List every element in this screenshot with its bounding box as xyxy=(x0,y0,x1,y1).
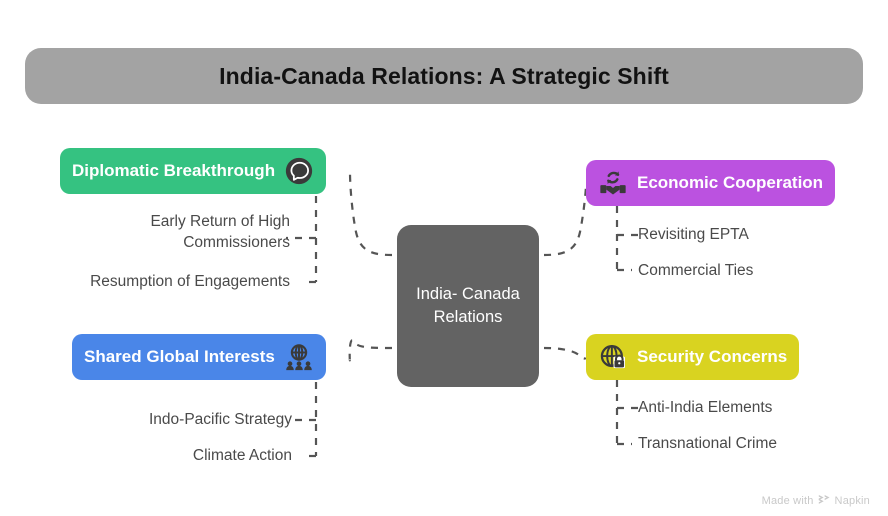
leaf-climate-action: Climate Action xyxy=(20,446,292,467)
leaf-transnational-crime: Transnational Crime xyxy=(638,434,888,455)
footer-brand: Napkin xyxy=(835,495,870,507)
branch-label: Economic Cooperation xyxy=(637,173,823,193)
chat-bubble-icon xyxy=(284,156,314,186)
leaf-commercial-ties: Commercial Ties xyxy=(638,261,888,282)
leaf-indo-pacific-strategy: Indo-Pacific Strategy xyxy=(20,410,292,431)
center-node-label: India- Canada Relations xyxy=(397,283,539,330)
globe-people-icon xyxy=(284,342,314,372)
branch-economic-cooperation[interactable]: Economic Cooperation xyxy=(586,160,835,206)
globe-lock-icon xyxy=(598,342,628,372)
branch-label: Shared Global Interests xyxy=(84,347,275,367)
mindmap-canvas: India-Canada Relations: A Strategic Shif… xyxy=(0,0,888,516)
footer-prefix: Made with xyxy=(762,495,814,507)
center-node[interactable]: India- Canada Relations xyxy=(397,225,539,387)
leaf-anti-india-elements: Anti-India Elements xyxy=(638,398,888,419)
leaf-early-return-of-high-commissioners: Early Return of High Commissioners xyxy=(20,212,290,253)
leaf-revisiting-epta: Revisiting EPTA xyxy=(638,225,888,246)
napkin-chevron-logo xyxy=(818,493,831,508)
branch-label: Security Concerns xyxy=(637,347,787,367)
made-with-napkin-footer[interactable]: Made with Napkin xyxy=(762,493,870,508)
handshake-refresh-icon xyxy=(598,168,628,198)
branch-shared-global-interests[interactable]: Shared Global Interests xyxy=(72,334,326,380)
page-title: India-Canada Relations: A Strategic Shif… xyxy=(219,63,669,90)
diagram-title-banner: India-Canada Relations: A Strategic Shif… xyxy=(25,48,863,104)
branch-label: Diplomatic Breakthrough xyxy=(72,161,275,181)
branch-security-concerns[interactable]: Security Concerns xyxy=(586,334,799,380)
leaf-resumption-of-engagements: Resumption of Engagements xyxy=(20,272,290,293)
branch-diplomatic-breakthrough[interactable]: Diplomatic Breakthrough xyxy=(60,148,326,194)
